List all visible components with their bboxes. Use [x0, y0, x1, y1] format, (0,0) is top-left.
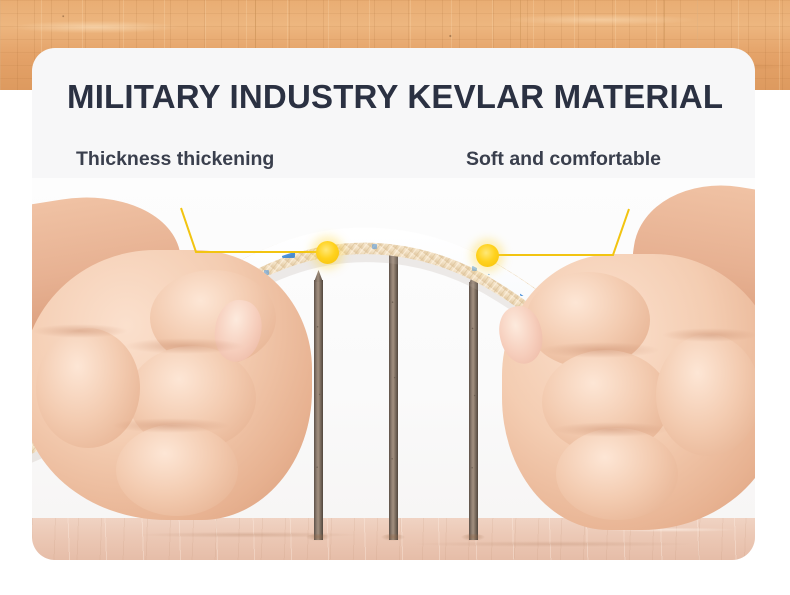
callout-title: Soft and comfortable [466, 148, 673, 171]
knuckle [116, 424, 238, 516]
content-card: MILITARY INDUSTRY KEVLAR MATERIAL Thickn… [32, 48, 755, 560]
product-banner: MILITARY INDUSTRY KEVLAR MATERIAL Thickn… [0, 0, 790, 595]
skin-crease [540, 342, 660, 358]
product-photo [32, 178, 755, 560]
callout-dot-icon-left [316, 241, 339, 264]
skin-crease [662, 328, 755, 342]
page-title: MILITARY INDUSTRY KEVLAR MATERIAL [67, 78, 727, 116]
knuckle [556, 428, 678, 520]
skin-crease [552, 422, 670, 437]
knuckle [656, 334, 755, 456]
callout-dot-icon-right [476, 244, 499, 267]
callout-title: Thickness thickening [76, 148, 319, 171]
skin-crease [124, 338, 244, 354]
skin-crease [32, 324, 128, 338]
skin-crease [112, 418, 230, 433]
